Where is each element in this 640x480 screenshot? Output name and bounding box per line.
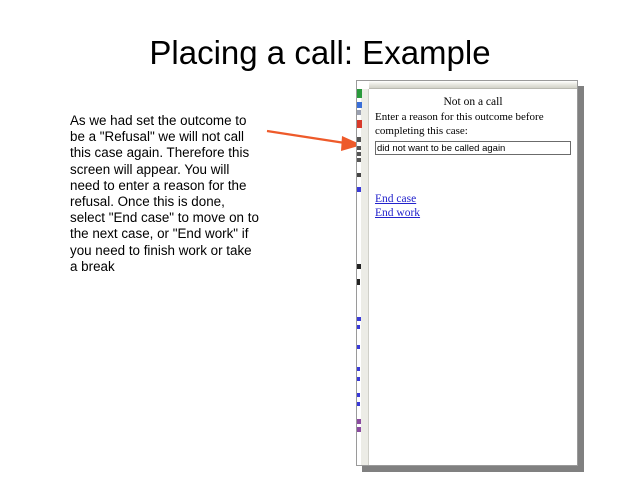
reason-input[interactable] — [375, 141, 571, 155]
captured-page-content: Not on a call Enter a reason for this ou… — [369, 89, 577, 465]
sidebar-fragment-2 — [357, 110, 361, 115]
sidebar-fragment-8 — [357, 173, 361, 177]
embedded-screenshot: Not on a call Enter a reason for this ou… — [356, 80, 578, 466]
sidebar-fragment-10 — [357, 264, 361, 269]
sidebar-fragment-18 — [357, 402, 360, 406]
captured-sidebar-sliver — [357, 89, 369, 465]
sidebar-fragment-5 — [357, 146, 361, 150]
sidebar-strip-background — [361, 89, 368, 465]
captured-action-links: End case End work — [375, 192, 571, 220]
sidebar-fragment-0 — [357, 89, 362, 98]
end-case-link[interactable]: End case — [375, 192, 416, 206]
presentation-slide: Placing a call: Example As we had set th… — [0, 0, 640, 480]
sidebar-fragment-13 — [357, 325, 360, 329]
captured-window-topbar — [369, 81, 577, 89]
sidebar-fragment-12 — [357, 317, 361, 321]
sidebar-fragment-16 — [357, 377, 360, 381]
captured-page-heading: Not on a call — [375, 96, 571, 109]
arrow-shaft — [267, 131, 345, 143]
slide-body-text: As we had set the outcome to be a "Refus… — [70, 113, 262, 275]
captured-instruction-text: Enter a reason for this outcome before c… — [375, 111, 571, 138]
sidebar-fragment-7 — [357, 158, 361, 162]
sidebar-fragment-20 — [357, 427, 361, 432]
sidebar-fragment-11 — [357, 279, 360, 285]
sidebar-fragment-19 — [357, 419, 361, 424]
captured-window-body: Not on a call Enter a reason for this ou… — [357, 89, 577, 465]
slide-title: Placing a call: Example — [0, 36, 640, 71]
sidebar-fragment-14 — [357, 345, 360, 349]
sidebar-fragment-3 — [357, 120, 362, 128]
sidebar-fragment-4 — [357, 137, 361, 142]
sidebar-fragment-15 — [357, 367, 360, 371]
sidebar-fragment-17 — [357, 393, 360, 397]
sidebar-fragment-1 — [357, 102, 362, 108]
red-arrow-annotation — [262, 120, 366, 154]
sidebar-fragment-6 — [357, 152, 361, 156]
sidebar-fragment-9 — [357, 187, 361, 192]
end-work-link[interactable]: End work — [375, 206, 420, 220]
